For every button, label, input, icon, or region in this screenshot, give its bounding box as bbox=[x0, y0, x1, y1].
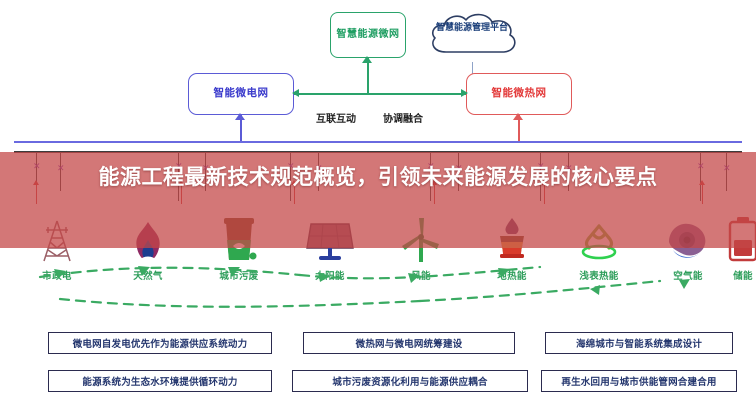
feature-card-5[interactable]: 城市污废资源化利用与能源供应耦合 bbox=[292, 370, 528, 392]
link-label-coordinate: 协调融合 bbox=[383, 110, 423, 125]
page-title: 能源工程最新技术规范概览，引领未来能源发展的核心要点 bbox=[0, 163, 756, 193]
feature-card-3[interactable]: 海绵城市与智能系统集成设计 bbox=[545, 332, 733, 354]
arrow-right-green-icon bbox=[461, 89, 468, 97]
cloud-icon bbox=[424, 10, 520, 62]
feature-card-6[interactable]: 再生水回用与城市供能管网合建合用 bbox=[541, 370, 737, 392]
feature-card-1[interactable]: 微电网自发电优先作为能源供应系统动力 bbox=[48, 332, 272, 354]
arrow-left-green-icon bbox=[292, 89, 299, 97]
arrow-up-blue-icon bbox=[235, 113, 245, 120]
node-smart-micro-heat-grid[interactable]: 智能微热网 bbox=[466, 73, 572, 115]
link-label-interconnect: 互联互动 bbox=[316, 110, 356, 125]
node-smart-micro-power-grid[interactable]: 智能微电网 bbox=[188, 73, 294, 115]
arrow-up-green-icon bbox=[362, 56, 372, 63]
cloud-label: 智慧能源管理平台 bbox=[424, 22, 520, 34]
green-vertical-connector bbox=[367, 58, 369, 94]
diagram-canvas: 智慧能源微网 智慧能源管理平台 智能微电网 智能微热网 互联互动 协调融合 ✕✕… bbox=[0, 0, 756, 400]
energy-flow-arrows bbox=[0, 255, 756, 315]
green-horizontal-connector bbox=[294, 93, 466, 95]
node-energy-management-platform[interactable]: 智慧能源管理平台 bbox=[424, 10, 520, 62]
node-smart-energy-microgrid[interactable]: 智慧能源微网 bbox=[330, 12, 406, 58]
feature-card-2[interactable]: 微热网与微电网统筹建设 bbox=[303, 332, 515, 354]
bus-bar-blue bbox=[14, 141, 742, 143]
arrow-up-red-icon bbox=[513, 113, 523, 120]
feature-card-4[interactable]: 能源系统为生态水环境提供循环动力 bbox=[48, 370, 272, 392]
